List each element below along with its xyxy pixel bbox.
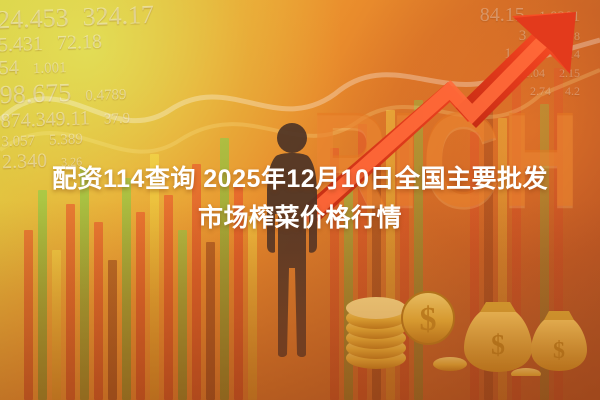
page-title: 配资114查询 2025年12月10日全国主要批发 市场榨菜价格行情 xyxy=(0,160,600,238)
headline-line-2: 市场榨菜价格行情 xyxy=(28,199,572,238)
headline-line-1: 配资114查询 2025年12月10日全国主要批发 xyxy=(28,160,572,199)
poster-image: 24.453324.17 5.43172.18 541.001 98.6750.… xyxy=(0,0,600,400)
